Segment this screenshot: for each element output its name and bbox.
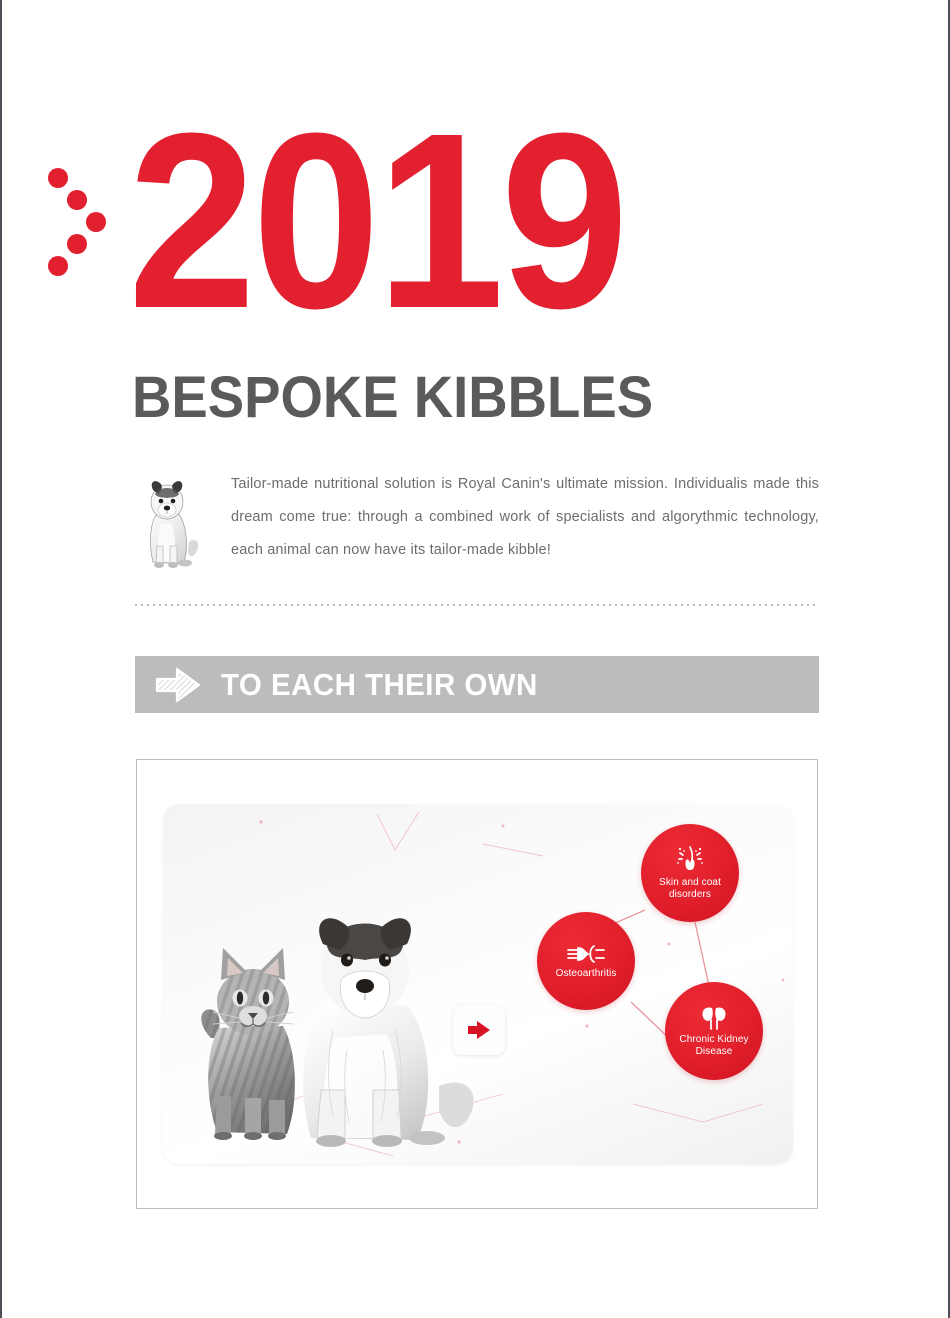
- bone-joint-icon: [566, 942, 606, 966]
- bubble-label: Osteoarthritis: [550, 968, 623, 980]
- chevron-dot: [67, 190, 87, 210]
- bubble-label-line1: Chronic Kidney: [679, 1034, 748, 1046]
- bubble-osteoarthritis[interactable]: Osteoarthritis: [537, 912, 635, 1010]
- bubble-label-line2: Disease: [679, 1046, 748, 1058]
- bubble-label: Chronic Kidney Disease: [673, 1034, 754, 1058]
- dog-thumbnail-graphic: [135, 468, 207, 574]
- page-title-year: 2019: [128, 96, 625, 346]
- kidney-icon: [699, 1004, 729, 1032]
- bubble-chronic-kidney-disease[interactable]: Chronic Kidney Disease: [665, 982, 763, 1080]
- bubble-label-line2: disorders: [659, 889, 721, 901]
- chevron-dots-icon: [48, 168, 120, 278]
- chevron-dot: [48, 168, 68, 188]
- section-divider: [135, 604, 819, 606]
- bubble-label-line1: Osteoarthritis: [556, 968, 617, 980]
- play-button[interactable]: [453, 1005, 505, 1055]
- intro-paragraph: Tailor-made nutritional solution is Roya…: [231, 468, 819, 567]
- chevron-dot: [48, 256, 68, 276]
- dog-figure: [303, 918, 473, 1147]
- banner-title: TO EACH THEIR OWN: [221, 667, 538, 703]
- page-root: 2019 BESPOKE KIBBLES: [0, 0, 950, 1318]
- media-panel[interactable]: Skin and coat disorders Ost: [163, 804, 793, 1164]
- jack-russell-terrier-photo: [135, 468, 207, 574]
- disease-bubble-cluster: Skin and coat disorders Ost: [523, 814, 793, 1154]
- cat-and-dog-photo: [195, 910, 495, 1160]
- chevron-dot: [67, 234, 87, 254]
- bubble-label-line1: Skin and coat: [659, 877, 721, 889]
- bubble-skin-and-coat-disorders[interactable]: Skin and coat disorders: [641, 824, 739, 922]
- bubble-label: Skin and coat disorders: [653, 877, 727, 901]
- page-subtitle: BESPOKE KIBBLES: [132, 366, 653, 430]
- intro-block: Tailor-made nutritional solution is Roya…: [135, 468, 819, 574]
- play-arrow-icon: [466, 1019, 492, 1041]
- hatched-arrow-right-icon: [155, 665, 201, 705]
- section-banner: TO EACH THEIR OWN: [135, 656, 819, 713]
- chevron-dot: [86, 212, 106, 232]
- hair-follicle-icon: [674, 845, 706, 875]
- content-card: Skin and coat disorders Ost: [136, 759, 818, 1209]
- cat-figure: [201, 948, 295, 1140]
